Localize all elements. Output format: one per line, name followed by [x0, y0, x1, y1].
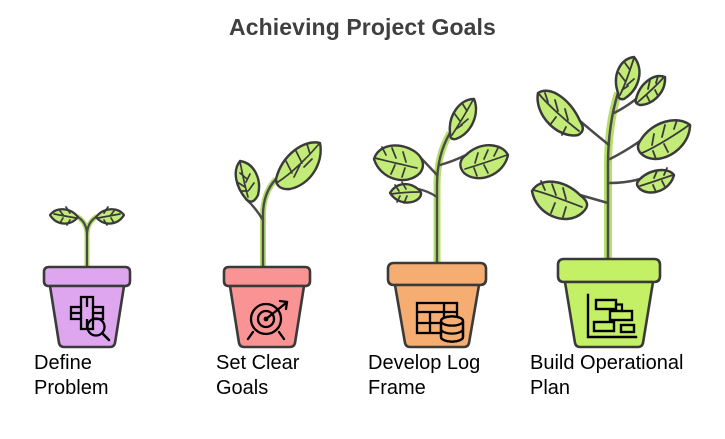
stage-define-problem[interactable]: Define Problem: [26, 55, 148, 439]
leaf: [50, 207, 78, 225]
infographic-canvas: Achieving Project Goals: [0, 0, 725, 439]
pot-3: [388, 263, 486, 347]
plant-illustration-1: [26, 55, 148, 345]
growth-stages-row: Define Problem: [0, 55, 725, 439]
stage-set-clear-goals[interactable]: Set Clear Goals: [206, 55, 328, 439]
leaf: [460, 145, 508, 178]
stage-label-4: Build Operational Plan: [530, 351, 708, 401]
leaf: [538, 91, 583, 136]
stage-label-3: Develop Log Frame: [368, 351, 518, 401]
leaf: [276, 142, 321, 189]
leaf: [450, 99, 476, 139]
plant-illustration-4: [522, 55, 700, 345]
leaf: [637, 168, 674, 193]
page-title: Achieving Project Goals: [0, 14, 725, 41]
leaf: [96, 207, 124, 225]
pot-4: [558, 259, 660, 347]
leaf: [390, 182, 421, 203]
plant-illustration-3: [362, 55, 512, 345]
leaf: [236, 161, 259, 202]
stage-label-1: Define Problem: [34, 351, 156, 401]
stage-build-operational-plan[interactable]: Build Operational Plan: [522, 55, 700, 439]
stage-develop-log-frame[interactable]: Develop Log Frame: [362, 55, 512, 439]
leaf: [374, 145, 423, 180]
leaf: [532, 181, 587, 219]
leaf: [636, 76, 665, 105]
leaf: [638, 120, 690, 159]
leaf: [616, 57, 639, 99]
plant-illustration-2: [206, 55, 328, 345]
stage-label-2: Set Clear Goals: [216, 351, 338, 401]
